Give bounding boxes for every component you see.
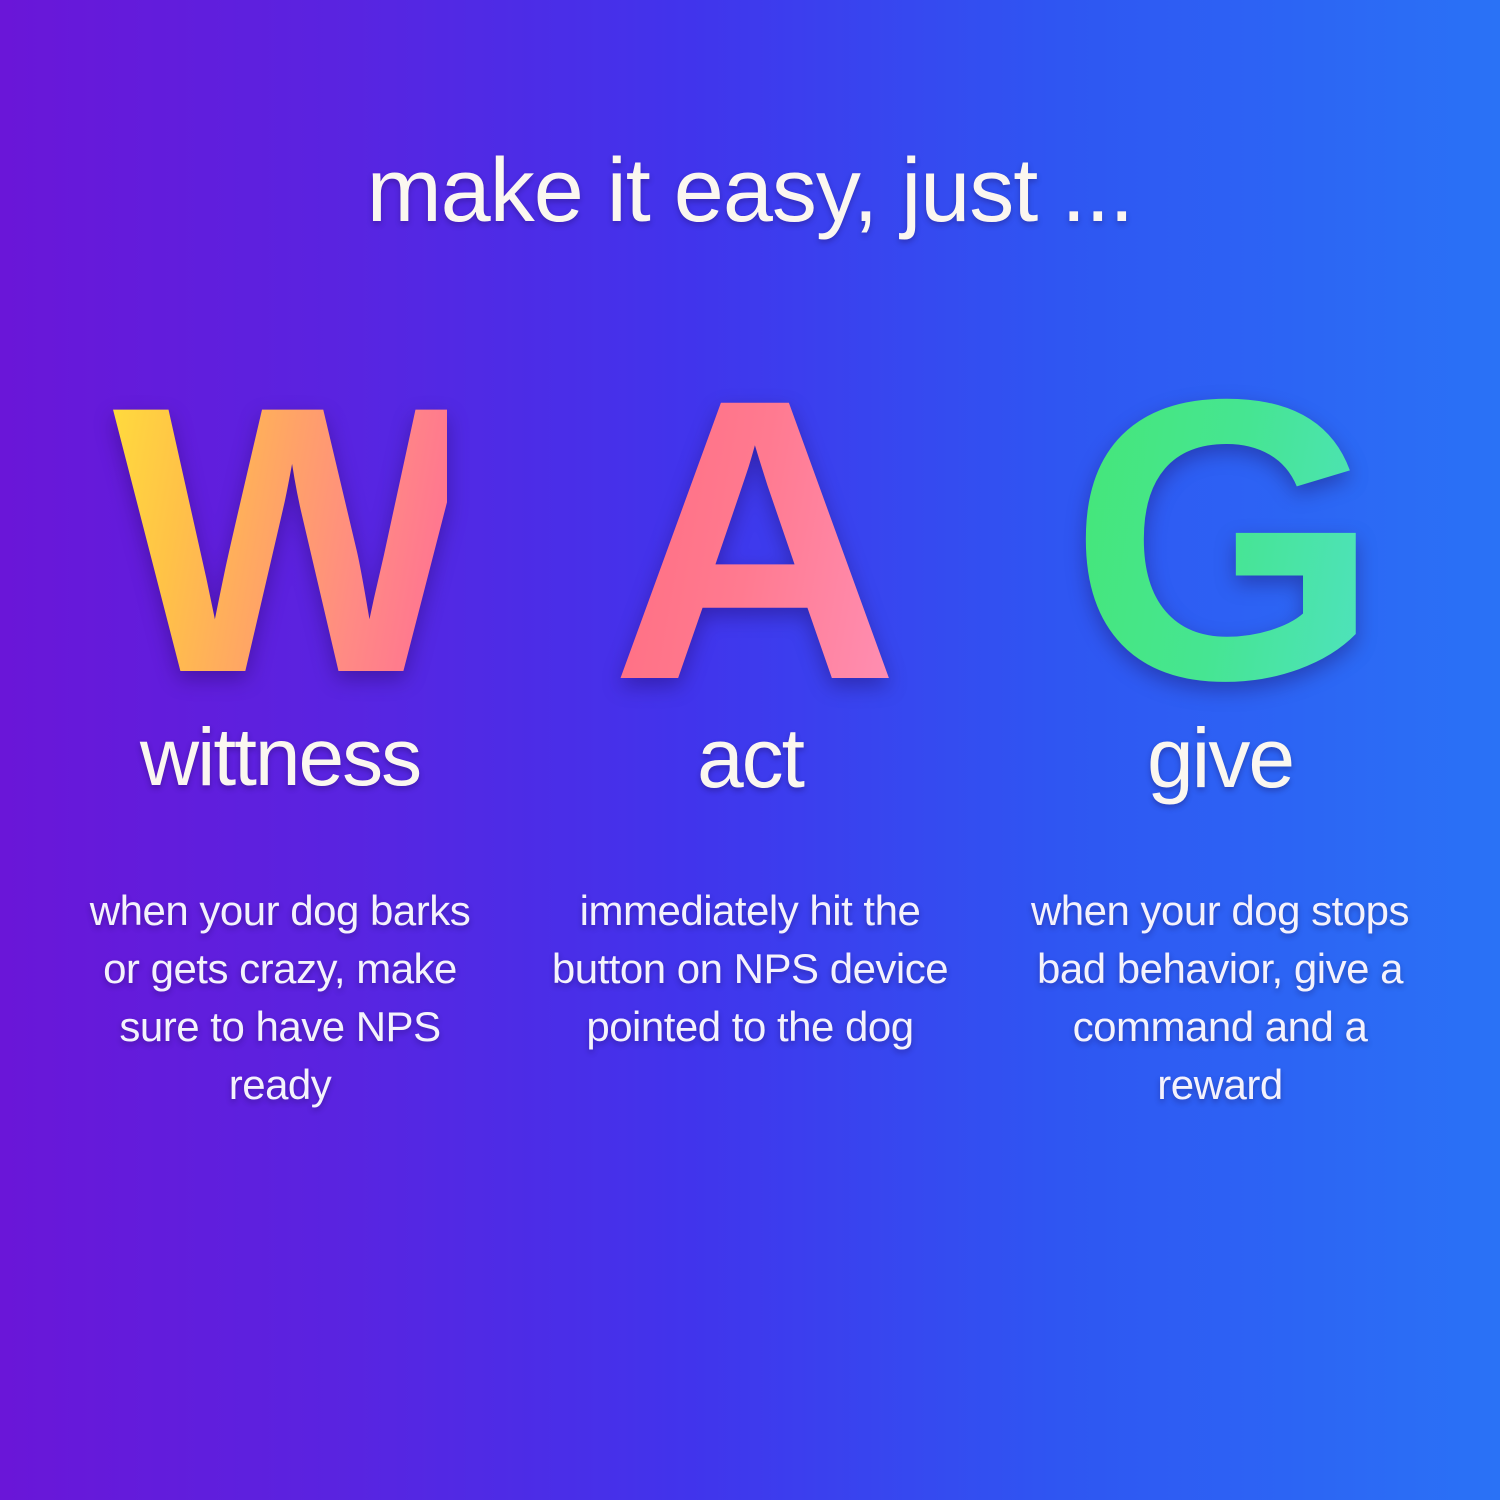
- description-give: when your dog stops bad behavior, give a…: [1005, 882, 1435, 1114]
- page-title: make it easy, just ...: [0, 146, 1500, 236]
- description-act: immediately hit the button on NPS device…: [548, 882, 953, 1056]
- big-letter-g: G: [1069, 390, 1370, 690]
- big-letter-a: A: [611, 390, 890, 690]
- column-give: G give when your dog stops bad behavior,…: [1000, 390, 1440, 1114]
- column-act: A act immediately hit the button on NPS …: [530, 390, 970, 1056]
- column-wittness: W wittness when your dog barks or gets c…: [60, 390, 500, 1114]
- wag-columns: W wittness when your dog barks or gets c…: [60, 390, 1440, 1114]
- big-letter-w: W: [113, 390, 448, 690]
- description-wittness: when your dog barks or gets crazy, make …: [80, 882, 480, 1114]
